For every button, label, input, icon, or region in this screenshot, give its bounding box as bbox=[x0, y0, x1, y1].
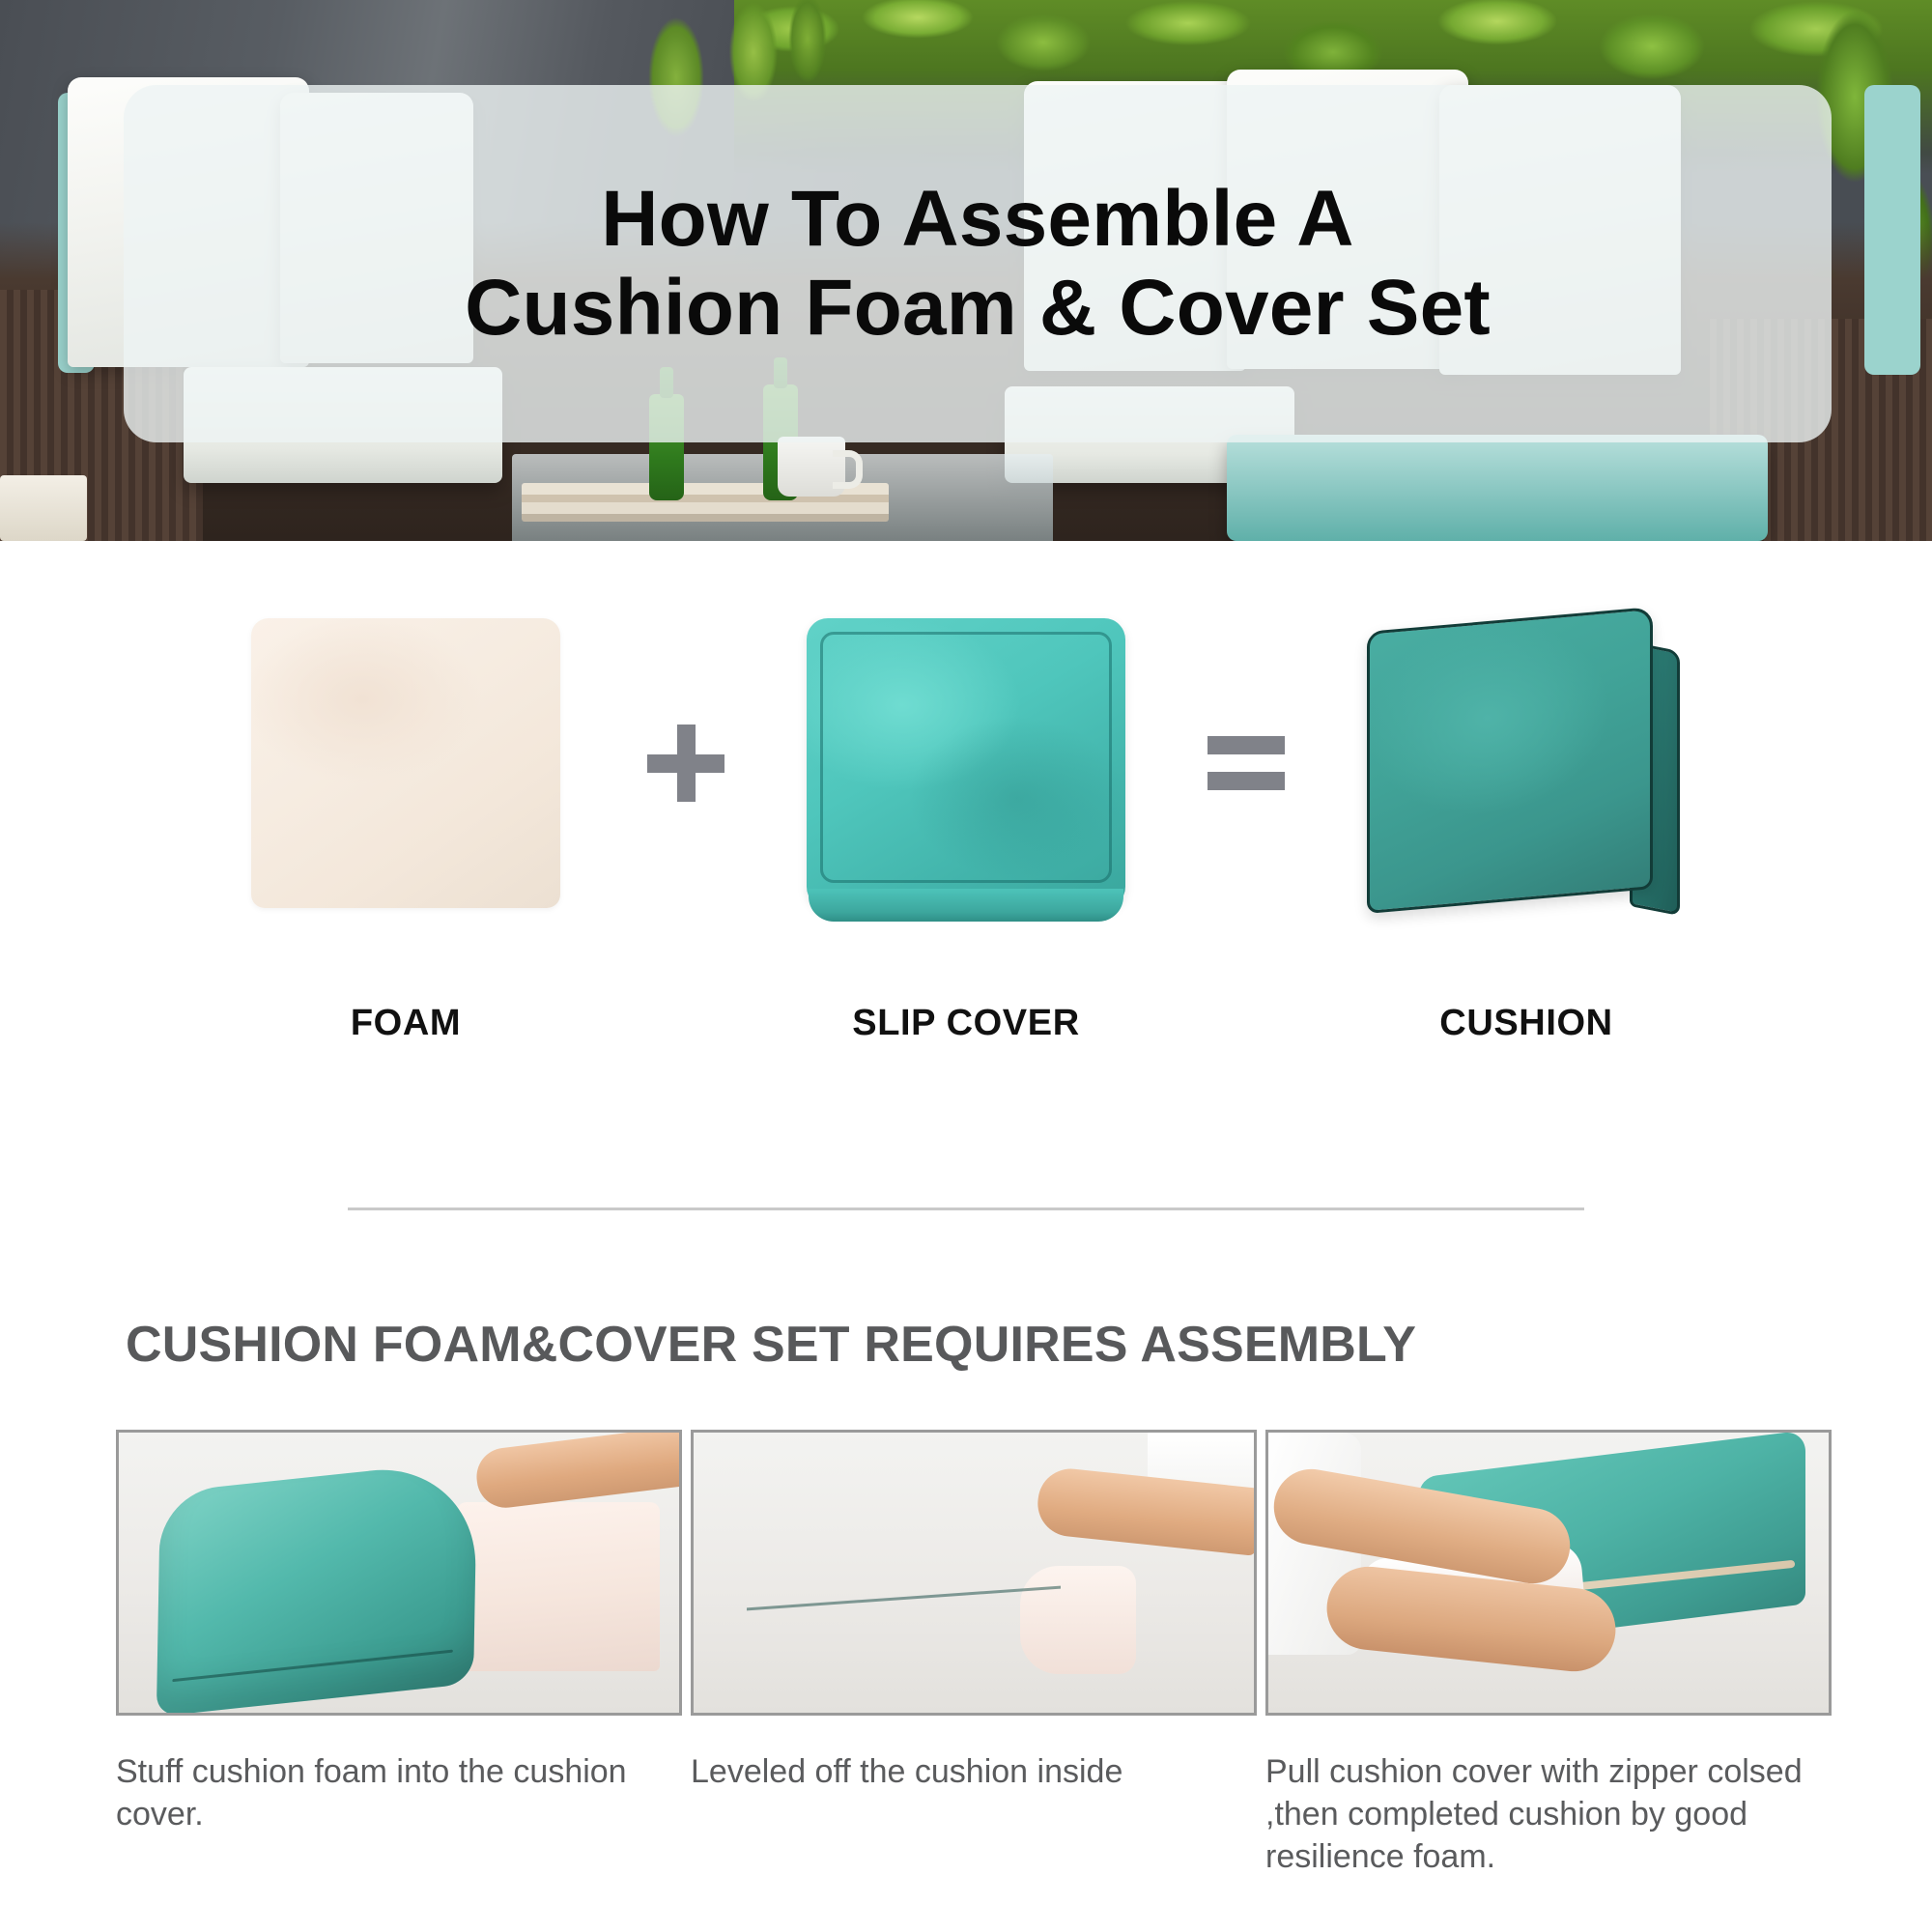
coffee-mug bbox=[778, 437, 845, 497]
lantern-decor bbox=[0, 475, 87, 541]
hero-banner: How To Assemble A Cushion Foam & Cover S… bbox=[0, 0, 1932, 541]
foam-label: FOAM bbox=[351, 1003, 461, 1044]
assembly-step-3: Pull cushion cover with zipper colsed ,t… bbox=[1265, 1430, 1826, 1879]
assembly-step-1: Stuff cushion foam into the cushion cove… bbox=[116, 1430, 676, 1879]
cushion-front-face bbox=[1367, 607, 1653, 914]
equals-icon bbox=[1207, 736, 1285, 790]
title-line-2: Cushion Foam & Cover Set bbox=[465, 264, 1491, 353]
compare-item-slip-cover: SLIP COVER bbox=[758, 580, 1174, 1044]
step-3-caption: Pull cushion cover with zipper colsed ,t… bbox=[1265, 1750, 1826, 1879]
slip-cover-art bbox=[807, 580, 1125, 947]
plus-operator bbox=[613, 580, 758, 947]
plus-icon bbox=[647, 724, 724, 802]
foam-insert bbox=[457, 1502, 660, 1671]
cushion-art bbox=[1367, 580, 1686, 947]
section-divider bbox=[348, 1207, 1584, 1210]
foam-art bbox=[251, 580, 560, 947]
teal-cover-fabric bbox=[156, 1460, 477, 1716]
step-1-caption: Stuff cushion foam into the cushion cove… bbox=[116, 1750, 676, 1835]
assembly-heading: CUSHION FOAM&COVER SET REQUIRES ASSEMBLY bbox=[126, 1316, 1416, 1374]
equals-operator bbox=[1174, 580, 1319, 947]
page-title: How To Assemble A Cushion Foam & Cover S… bbox=[426, 175, 1529, 353]
teal-cushion-edge-right bbox=[1864, 85, 1920, 375]
cushion-label: CUSHION bbox=[1439, 1003, 1612, 1044]
compare-item-foam: FOAM bbox=[198, 580, 613, 1044]
step-1-photo bbox=[116, 1430, 682, 1716]
step-2-caption: Leveled off the cushion inside bbox=[691, 1750, 1251, 1793]
finished-cushion-icon bbox=[1367, 613, 1686, 913]
teal-seat-cushion bbox=[1227, 435, 1768, 541]
teal-cover-fabric bbox=[737, 1485, 1070, 1682]
person-arm bbox=[473, 1430, 682, 1511]
assembly-steps: Stuff cushion foam into the cushion cove… bbox=[116, 1430, 1826, 1879]
title-overlay-panel: How To Assemble A Cushion Foam & Cover S… bbox=[124, 85, 1832, 442]
compare-item-cushion: CUSHION bbox=[1319, 580, 1734, 1044]
step-3-photo bbox=[1265, 1430, 1832, 1716]
slip-cover-label: SLIP COVER bbox=[852, 1003, 1079, 1044]
foam-block-icon bbox=[251, 618, 560, 908]
equation-row: FOAM SLIP COVER CUSHION bbox=[0, 580, 1932, 1121]
assembly-step-2: Leveled off the cushion inside bbox=[691, 1430, 1251, 1879]
title-line-1: How To Assemble A bbox=[465, 175, 1491, 264]
step-2-photo bbox=[691, 1430, 1257, 1716]
slip-cover-icon bbox=[807, 618, 1125, 908]
